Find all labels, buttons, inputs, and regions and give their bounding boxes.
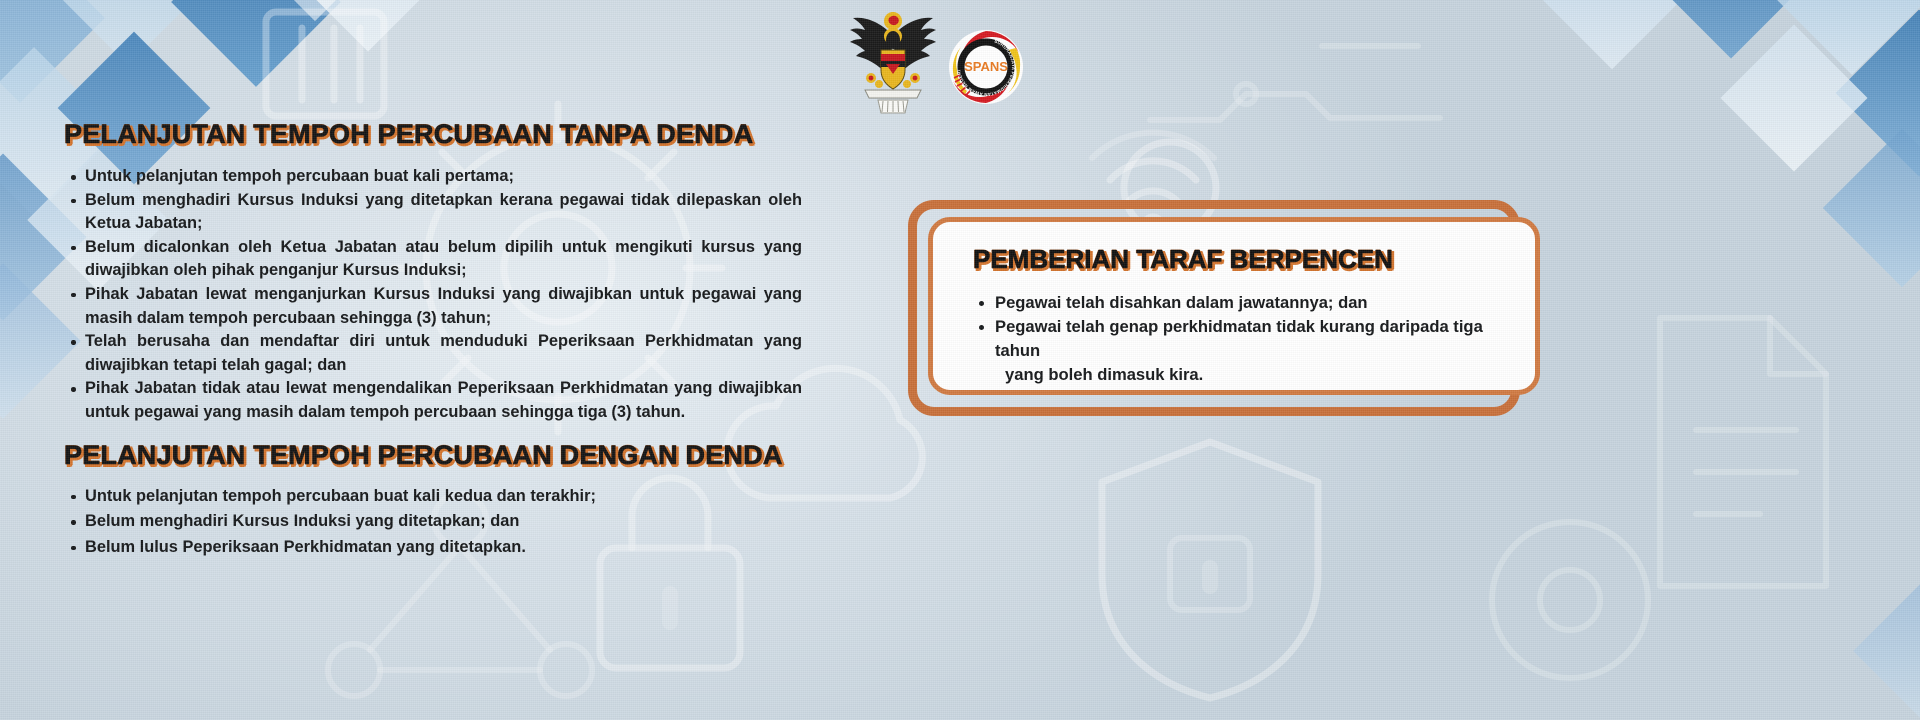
decor-shield-icon	[1060, 420, 1360, 720]
card-body: PEMBERIAN TARAF BERPENCEN Pegawai telah …	[928, 217, 1540, 395]
list-item: Belum lulus Peperiksaan Perkhidmatan yan…	[62, 536, 802, 560]
bullet-list-dengan-denda: Untuk pelanjutan tempoh percubaan buat k…	[62, 485, 802, 560]
logo-group: SURUHANJAYA PERKHIDMATAN AWAM NEGERI SAR…	[845, 6, 1025, 119]
decor-diamond	[1533, 0, 1691, 69]
decor-diamond	[1767, 0, 1920, 75]
list-item: Belum menghadiri Kursus Induksi yang dit…	[62, 510, 802, 534]
card-heading: PEMBERIAN TARAF BERPENCEN	[973, 244, 1393, 275]
list-item: Untuk pelanjutan tempoh percubaan buat k…	[62, 485, 802, 509]
decor-server-icon	[256, 4, 396, 124]
sarawak-state-crest	[845, 6, 941, 119]
list-item: Pegawai telah genap perkhidmatan tidak k…	[969, 315, 1509, 387]
pemberian-taraf-berpencen-card: PEMBERIAN TARAF BERPENCEN Pegawai telah …	[908, 200, 1540, 416]
list-item: Pihak Jabatan lewat menganjurkan Kursus …	[62, 283, 802, 330]
decor-circuit-icon	[1140, 0, 1460, 180]
list-item: Belum menghadiri Kursus Induksi yang dit…	[62, 189, 802, 236]
decor-diamond	[0, 0, 105, 103]
list-item: Untuk pelanjutan tempoh percubaan buat k…	[62, 165, 802, 189]
decor-diamond	[49, 0, 207, 65]
bullet-list-berpencen: Pegawai telah disahkan dalam jawatannya;…	[959, 291, 1509, 387]
list-item: Telah berusaha dan mendaftar diri untuk …	[62, 330, 802, 377]
decor-diamond	[1836, 10, 1920, 177]
decor-diamond	[1720, 24, 1867, 171]
spans-logo: SURUHANJAYA PERKHIDMATAN AWAM NEGERI SAR…	[947, 28, 1025, 111]
section-heading-dengan-denda: PELANJUTAN TEMPOH PERCUBAAN DENGAN DENDA	[62, 439, 785, 473]
list-item-text: Pegawai telah disahkan dalam jawatannya;…	[995, 293, 1368, 312]
list-item-continuation: yang boleh dimasuk kira.	[995, 363, 1509, 387]
decor-diamond	[294, 0, 441, 52]
decor-diamond	[1823, 129, 1920, 287]
poster-background: SURUHANJAYA PERKHIDMATAN AWAM NEGERI SAR…	[0, 0, 1920, 720]
decor-diamond	[1648, 0, 1815, 58]
list-item: Pihak Jabatan tidak atau lewat mengendal…	[62, 377, 802, 424]
decor-settings-icon	[1420, 470, 1720, 720]
decor-document-icon	[1610, 300, 1870, 600]
list-item: Pegawai telah disahkan dalam jawatannya;…	[969, 291, 1509, 315]
decor-diamond	[1853, 573, 1920, 720]
list-item: Belum dicalonkan oleh Ketua Jabatan atau…	[62, 236, 802, 283]
list-item-text: Pegawai telah genap perkhidmatan tidak k…	[995, 317, 1483, 360]
spans-wordmark: SPANS	[964, 59, 1008, 74]
bullet-list-tanpa-denda: Untuk pelanjutan tempoh percubaan buat k…	[62, 165, 802, 425]
section-heading-tanpa-denda: PELANJUTAN TEMPOH PERCUBAAN TANPA DENDA	[62, 118, 755, 152]
decor-diamond	[209, 0, 421, 21]
decor-diamond	[171, 0, 341, 87]
left-content-column: PELANJUTAN TEMPOH PERCUBAAN TANPA DENDA …	[62, 118, 802, 561]
